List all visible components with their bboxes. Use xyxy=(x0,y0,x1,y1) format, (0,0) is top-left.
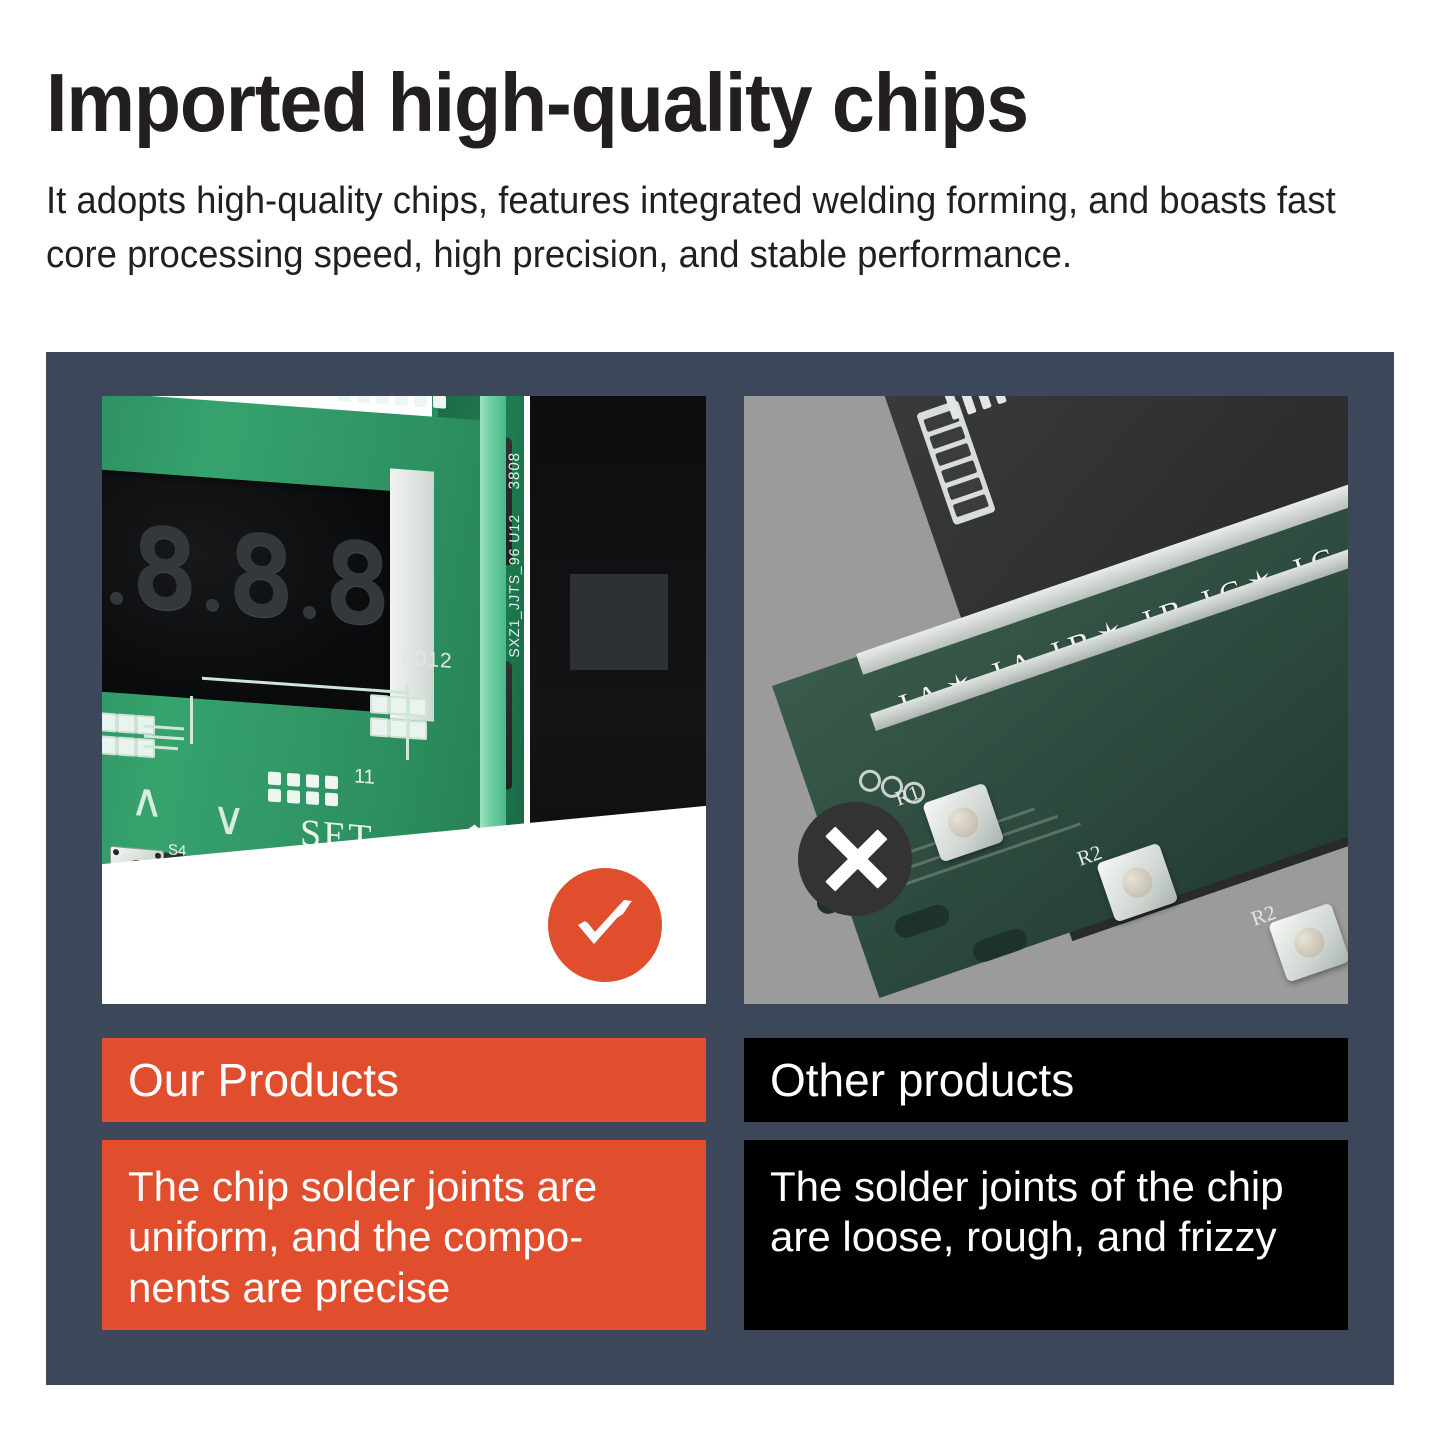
display-digits: 8 8 8 xyxy=(110,522,393,632)
comparison-column-other-products: IA✶ IA IB✶ IB IC✶ IC R1 R2 R2 xyxy=(744,396,1348,1330)
comparison-column-our-products: 3808 SXZ1_JJTS_96 U12 3808 8 8 8 xyxy=(102,396,706,1330)
page-title: Imported high-quality chips xyxy=(46,62,1300,143)
digit: 8 xyxy=(227,531,296,626)
background-chip xyxy=(570,574,668,670)
header: Imported high-quality chips It adopts hi… xyxy=(46,62,1394,283)
silkscreen-trace xyxy=(190,696,193,744)
check-icon xyxy=(568,888,642,962)
label-title-ours: Our Products xyxy=(128,1057,399,1103)
keypad-pad-array xyxy=(268,771,340,806)
silkscreen-index-label: 11 xyxy=(354,765,375,789)
silkscreen-part-number: 6012 xyxy=(402,646,453,674)
seven-segment-display: 8 8 8 xyxy=(102,469,392,713)
up-arrow-silkscreen: ∧ xyxy=(130,777,164,825)
digit: 8 xyxy=(324,538,393,633)
silkscreen-trace xyxy=(406,684,409,760)
top-pad-array xyxy=(338,396,448,409)
infographic-page: Imported high-quality chips It adopts hi… xyxy=(0,0,1440,1440)
digit: 8 xyxy=(131,524,200,619)
label-title-others: Other products xyxy=(770,1057,1074,1103)
down-arrow-silkscreen: ∨ xyxy=(212,795,246,843)
description-bar-other-products: The solder joints of the chip are loose,… xyxy=(744,1140,1348,1330)
decimal-point xyxy=(303,605,316,619)
comparison-frame: 3808 SXZ1_JJTS_96 U12 3808 8 8 8 xyxy=(46,352,1394,1385)
product-photo-others: IA✶ IA IB✶ IB IC✶ IC R1 R2 R2 xyxy=(744,396,1348,1004)
close-icon xyxy=(822,826,888,892)
page-subtitle: It adopts high-quality chips, features i… xyxy=(46,175,1390,283)
label-bar-other-products: Other products xyxy=(744,1038,1348,1122)
solder-pad-group xyxy=(370,694,423,740)
product-photo-ours: 3808 SXZ1_JJTS_96 U12 3808 8 8 8 xyxy=(102,396,706,1004)
display-bezel xyxy=(390,468,434,721)
silkscreen-module-code: SXZ1_JJTS_96 U12 xyxy=(506,514,522,658)
decimal-point xyxy=(206,598,219,612)
x-badge xyxy=(798,802,912,916)
check-badge xyxy=(548,868,662,982)
label-body-others: The solder joints of the chip are loose,… xyxy=(770,1162,1324,1263)
label-body-ours: The chip solder joints are uniform, and … xyxy=(128,1162,682,1313)
label-bar-our-products: Our Products xyxy=(102,1038,706,1122)
tactile-switch xyxy=(1268,903,1348,983)
decimal-point xyxy=(110,591,123,605)
silkscreen-board-code: 3808 xyxy=(506,452,523,490)
description-bar-our-products: The chip solder joints are uniform, and … xyxy=(102,1140,706,1330)
